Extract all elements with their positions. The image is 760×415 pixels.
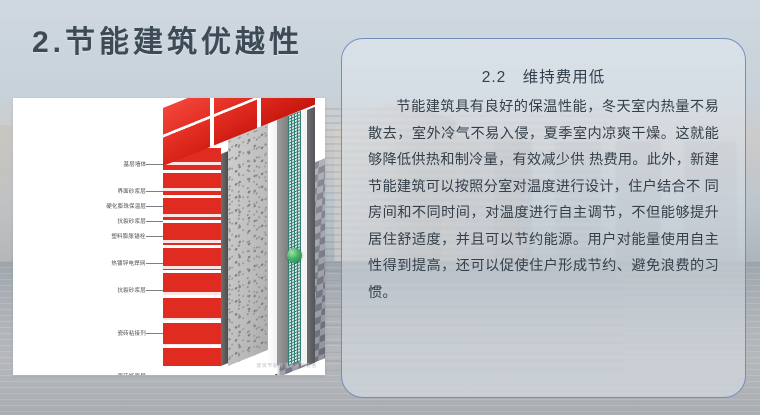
wall-diagram-card: 基层墙体 界面砂浆层 硬化膨珠保温层 抗裂砂浆层 塑料膨胀锚栓: [13, 98, 325, 375]
content-card: 2.2 维持费用低 节能建筑具有良好的保温性能，冬天室内热量不易散去，室外冷气不…: [341, 38, 746, 398]
slide-root: 2.节能建筑优越性 基层墙体 界面砂浆层 硬化膨珠保温层 抗裂砂浆: [0, 0, 760, 415]
diagram-label-anticrack-mortar-2: 抗裂砂浆层: [21, 282, 146, 297]
diagram-label-interface-mortar: 界面砂浆层: [21, 183, 146, 198]
layer-brick-notches: [163, 148, 221, 366]
wall-assembly: [141, 108, 325, 375]
layer-base-coat-outer: [301, 111, 307, 366]
diagram-label-plastic-anchor: 塑料膨胀锚栓: [21, 228, 146, 243]
plastic-anchor-icon: [287, 248, 302, 263]
diagram-label-tile-adhesive: 瓷砖粘接剂: [21, 325, 146, 340]
layer-tile-adhesive: [307, 107, 315, 366]
wall-section-illustration: 基层墙体 界面砂浆层 硬化膨珠保温层 抗裂砂浆层 塑料膨胀锚栓: [13, 98, 325, 375]
diagram-label-galvanized-mesh: 热镀锌电焊网: [21, 255, 146, 270]
page-title: 2.节能建筑优越性: [32, 26, 303, 59]
diagram-label-anticrack-mortar-1: 抗裂砂浆层: [21, 213, 146, 228]
diagram-label-list: 基层墙体 界面砂浆层 硬化膨珠保温层 抗裂砂浆层 塑料膨胀锚栓: [21, 156, 146, 375]
layer-levelling-coat: [277, 116, 288, 366]
layer-insulation-board: [228, 116, 268, 366]
content-paragraph: 节能建筑具有良好的保温性能，冬天室内热量不易散去，室外冷气不易入侵，夏季室内凉爽…: [368, 94, 719, 306]
layer-interface-mortar: [221, 151, 228, 366]
diagram-label-insulation: 硬化膨珠保温层: [21, 198, 146, 213]
diagram-label-text: 硬化膨珠保温层: [106, 201, 146, 209]
diagram-label-base-wall: 基层墙体: [21, 156, 146, 171]
diagram-label-tile-finish: 面砖饰面层: [21, 368, 146, 375]
figure-watermark: 建筑节能保温系统构造图: [257, 363, 318, 369]
layer-galvanized-mesh: [288, 111, 301, 366]
content-card-body: 节能建筑具有良好的保温性能，冬天室内热量不易散去，室外冷气不易入侵，夏季室内凉爽…: [368, 94, 719, 306]
content-card-heading: 2.2 维持费用低: [368, 65, 719, 87]
layer-render-coat: [268, 120, 277, 366]
